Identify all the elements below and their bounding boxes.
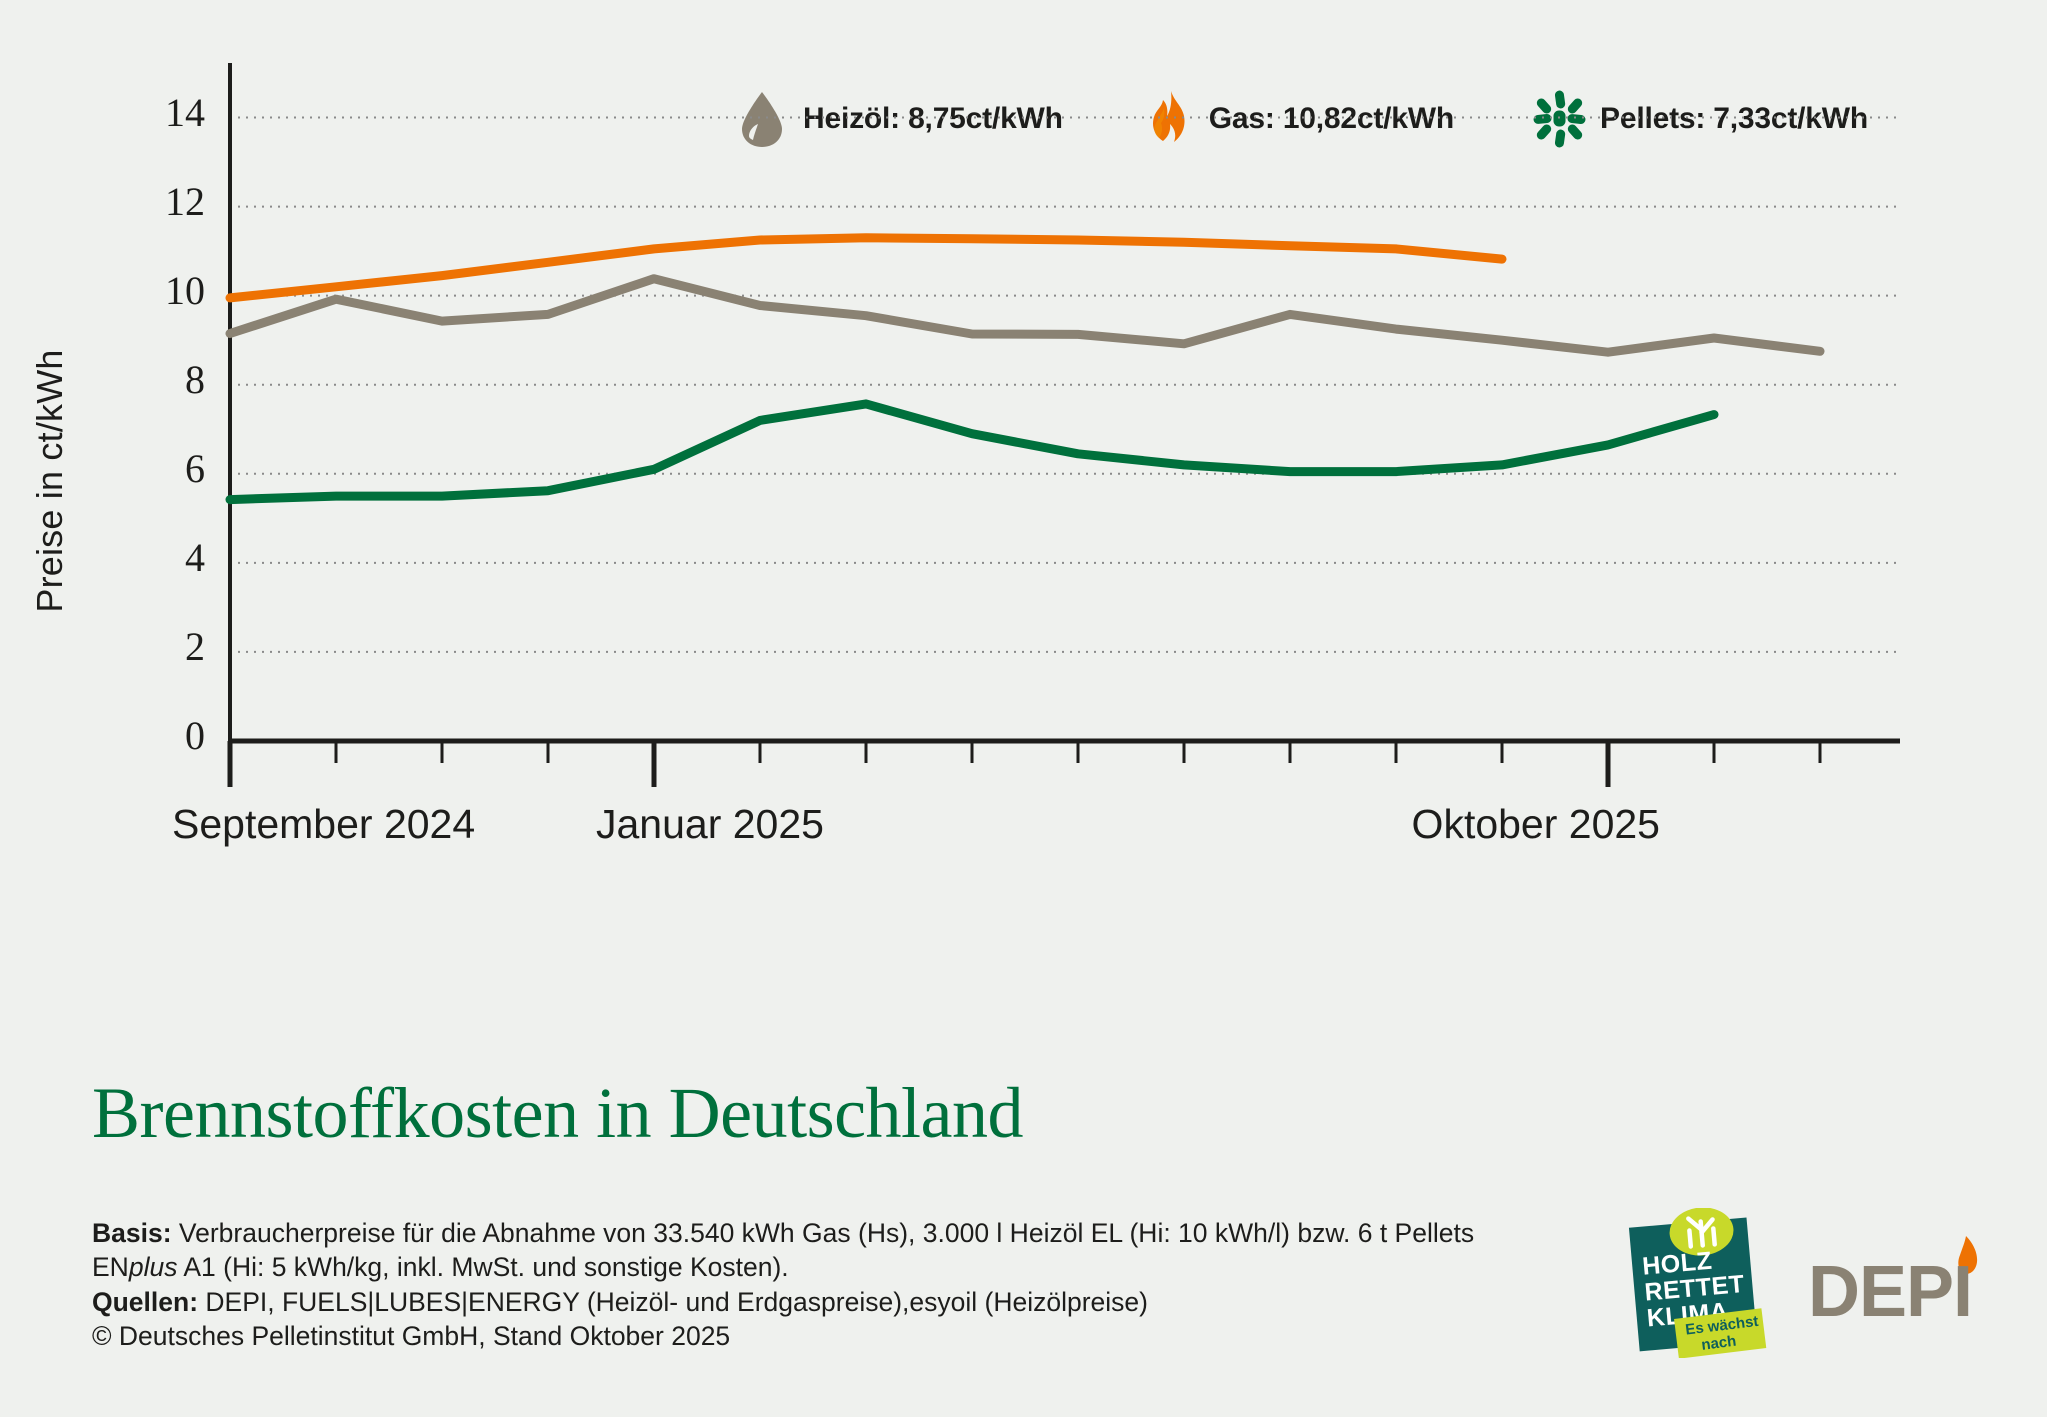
depi-wordmark: DEPI [1808, 1252, 1972, 1332]
holz-rettet-klima-logo: HOLZ RETTET KLIMA Es wächst nach [1628, 1208, 1768, 1358]
footer-notes: Basis: Verbraucherpreise für die Abnahme… [92, 1216, 1602, 1354]
footer-basis-label: Basis: [92, 1218, 172, 1248]
series-line-pellets [230, 404, 1714, 500]
logo-group: HOLZ RETTET KLIMA Es wächst nach DEPI [1628, 1208, 1986, 1358]
page-title: Brennstoffkosten in Deutschland [92, 1072, 1023, 1155]
depi-logo: DEPI [1806, 1228, 1986, 1338]
footer-quellen-text: DEPI, FUELS|LUBES|ENERGY (Heizöl- und Er… [198, 1287, 1148, 1317]
footer-line-copyright: © Deutsches Pelletinstitut GmbH, Stand O… [92, 1319, 1602, 1353]
series-line-heizl [230, 279, 1820, 353]
footer-line-enplus: ENplus A1 (Hi: 5 kWh/kg, inkl. MwSt. und… [92, 1250, 1602, 1284]
footer-line-quellen: Quellen: DEPI, FUELS|LUBES|ENERGY (Heizö… [92, 1285, 1602, 1319]
footer-line-basis: Basis: Verbraucherpreise für die Abnahme… [92, 1216, 1602, 1250]
footer-enplus-italic: plus [129, 1252, 178, 1282]
chart-area: Preise in ct/kWh 02468101214 September 2… [0, 60, 2047, 1010]
series-line-gas [230, 238, 1502, 298]
footer-enplus-post: A1 (Hi: 5 kWh/kg, inkl. MwSt. und sonsti… [177, 1252, 788, 1282]
footer-basis-text: Verbraucherpreise für die Abnahme von 33… [172, 1218, 1475, 1248]
footer-enplus-pre: EN [92, 1252, 129, 1282]
line-plot [0, 60, 2047, 1010]
footer-quellen-label: Quellen: [92, 1287, 198, 1317]
